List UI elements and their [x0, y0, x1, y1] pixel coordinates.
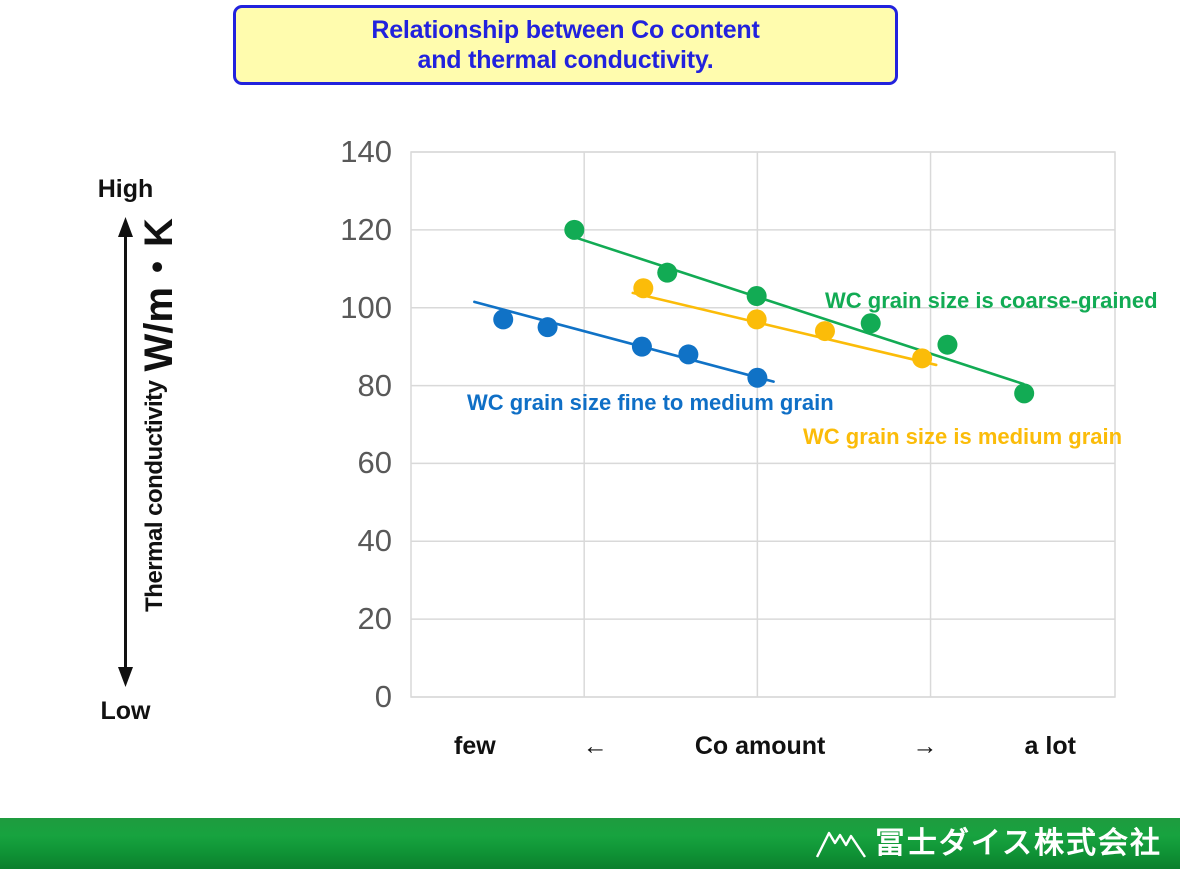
data-point-series-1	[747, 309, 767, 329]
chart-area: 140120100806040200 WC grain size fine to…	[0, 0, 1180, 800]
data-point-series-2	[657, 263, 677, 283]
data-point-series-1	[633, 278, 653, 298]
series-label-coarse-grained: WC grain size is coarse-grained	[825, 288, 1158, 314]
series-label-medium-grain: WC grain size is medium grain	[803, 424, 1122, 450]
data-point-series-0	[747, 368, 767, 388]
data-point-series-0	[632, 337, 652, 357]
data-point-series-2	[937, 335, 957, 355]
company-logo: 冨士ダイス株式会社	[815, 826, 1162, 862]
x-axis-few-label: few	[454, 732, 496, 761]
data-point-series-2	[861, 313, 881, 333]
data-point-series-2	[747, 286, 767, 306]
x-axis-alot-label: a lot	[1025, 732, 1076, 761]
x-axis-right-arrow-icon: →	[912, 732, 937, 761]
data-point-series-0	[538, 317, 558, 337]
x-axis-center-label: Co amount	[695, 732, 826, 761]
mountain-logo-icon	[815, 827, 867, 861]
company-name: 冨士ダイス株式会社	[875, 826, 1162, 862]
x-axis-left-arrow-icon: ←	[583, 732, 608, 761]
x-axis-title: few ← Co amount → a lot	[410, 722, 1120, 770]
data-point-series-2	[564, 220, 584, 240]
data-point-series-1	[815, 321, 835, 341]
series-label-fine-to-medium: WC grain size fine to medium grain	[467, 390, 834, 416]
data-point-series-2	[1014, 383, 1034, 403]
data-point-series-0	[493, 309, 513, 329]
footer-band: 冨士ダイス株式会社	[0, 818, 1180, 869]
data-point-series-0	[678, 344, 698, 364]
data-point-series-1	[912, 348, 932, 368]
